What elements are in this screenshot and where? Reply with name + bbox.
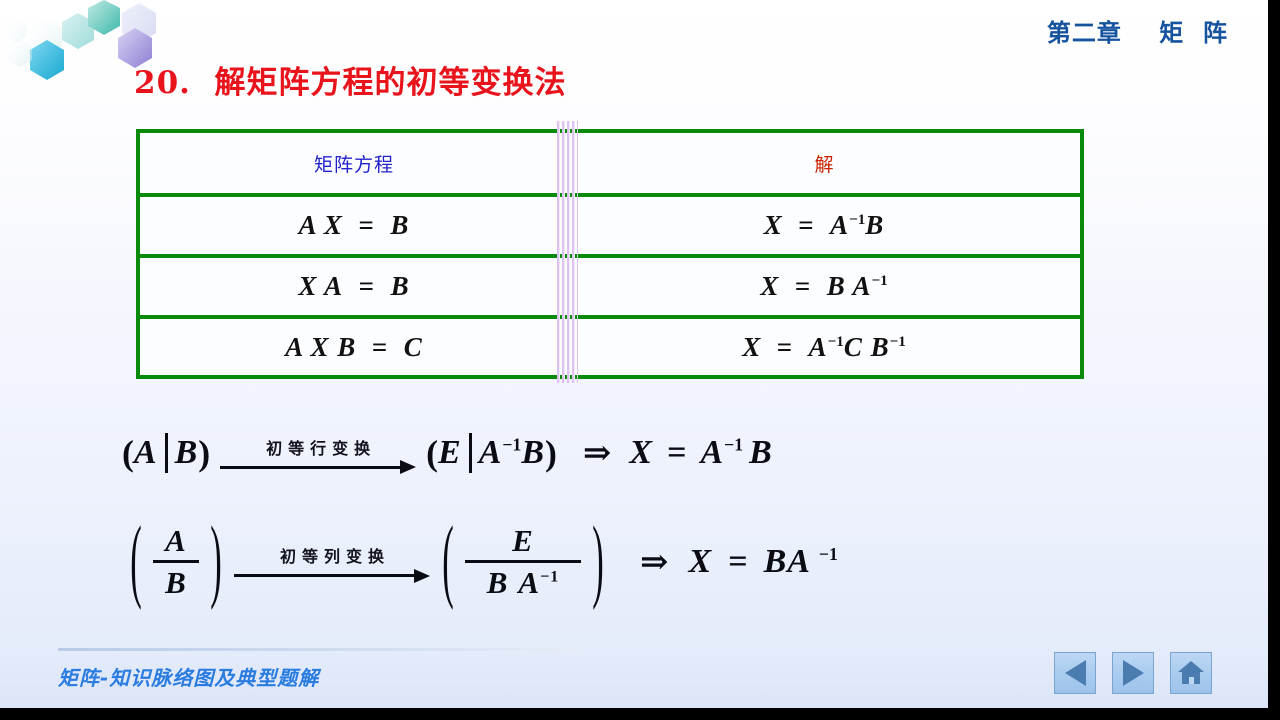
result-x: X	[629, 434, 653, 472]
arrow-line-icon	[220, 460, 416, 476]
implies-symbol: ⇒	[579, 433, 616, 473]
table-cell-solution: X = B A−1	[568, 258, 1080, 315]
equation-axb-c: A X B = C	[285, 332, 422, 363]
open-bigparen-right: (	[439, 509, 457, 614]
table-header-cell-equation: 矩阵方程	[140, 133, 568, 193]
close-paren-left: )	[198, 432, 210, 474]
result-bainv: BA−1	[764, 543, 838, 581]
table-cell-equation: A X B = C	[140, 319, 568, 376]
table-row: A X = B X = A−1B	[140, 193, 1080, 254]
stack-top-e: E	[506, 524, 540, 560]
stack-bottom-bainv: BA−1	[481, 563, 566, 599]
solution-x-ainvcbinv: X = A−1C B−1	[742, 332, 906, 363]
table-header-cell-solution: 解	[568, 133, 1080, 193]
open-paren-left: (	[122, 432, 134, 474]
equals-symbol: =	[724, 543, 751, 581]
matrix-ainv-b: A−1B	[479, 434, 545, 472]
derivation-column-transformation: ( A B ) 初等列变换 ( E BA−1 ) ⇒ X = BA−1	[128, 524, 838, 600]
augment-bar	[165, 433, 168, 473]
result-ainv-b: A−1B	[700, 434, 772, 472]
arrow-label-column-transform: 初等列变换	[274, 543, 390, 567]
close-bigparen-right: )	[589, 509, 607, 614]
triangle-right-icon	[1123, 660, 1144, 686]
arrow-line-icon	[234, 568, 430, 584]
table-cell-solution: X = A−1B	[568, 197, 1080, 254]
table-header-row: 矩阵方程 解	[140, 133, 1080, 193]
close-paren-right: )	[545, 432, 557, 474]
matrix-b: B	[175, 434, 199, 472]
previous-slide-button[interactable]	[1054, 652, 1096, 694]
column-header-solution: 解	[814, 150, 833, 177]
stack-top-a: A	[159, 524, 193, 560]
table-row: X A = B X = B A−1	[140, 254, 1080, 315]
equation-ax-b: A X = B	[299, 210, 410, 241]
implies-symbol: ⇒	[636, 542, 673, 582]
slide-canvas: 第二章 矩 阵 20. 解矩阵方程的初等变换法 矩阵方程 解 A X = B X…	[0, 0, 1268, 708]
stack-bottom-b: B	[159, 563, 193, 599]
column-transform-arrow: 初等列变换	[234, 543, 430, 584]
footer-title: 矩阵-知识脉络图及典型题解	[58, 662, 319, 691]
result-x: X	[689, 543, 713, 581]
navigation-buttons	[1054, 652, 1212, 694]
row-transform-arrow: 初等行变换	[220, 435, 416, 476]
derivation-row-transformation: ( A B ) 初等行变换 ( E A−1B ) ⇒ X = A−1B	[122, 432, 773, 474]
footer-divider	[58, 648, 580, 651]
table-cell-solution: X = A−1C B−1	[568, 319, 1080, 376]
table-cell-equation: A X = B	[140, 197, 568, 254]
matrix-a: A	[134, 434, 158, 472]
table-row: A X B = C X = A−1C B−1	[140, 315, 1080, 376]
page-title: 20. 解矩阵方程的初等变换法	[134, 57, 567, 102]
open-bigparen-left: (	[127, 509, 145, 614]
matrix-e: E	[438, 434, 462, 472]
augment-bar	[469, 433, 472, 473]
equals-symbol: =	[663, 434, 690, 472]
table-cell-equation: X A = B	[140, 258, 568, 315]
matrix-equation-table: 矩阵方程 解 A X = B X = A−1B X A = B X = B A−…	[136, 129, 1084, 379]
stacked-matrix-a-over-b: A B	[153, 524, 199, 600]
equation-xa-b: X A = B	[298, 271, 409, 302]
open-paren-right: (	[426, 432, 438, 474]
solution-x-ainvb: X = A−1B	[764, 210, 885, 241]
close-bigparen-left: )	[207, 509, 225, 614]
triangle-left-icon	[1065, 660, 1086, 686]
arrow-label-row-transform: 初等行变换	[260, 435, 376, 459]
solution-x-bainv: X = B A−1	[760, 271, 887, 302]
column-header-equation: 矩阵方程	[314, 150, 394, 177]
chapter-header: 第二章 矩 阵	[1047, 13, 1228, 48]
home-icon	[1178, 661, 1204, 685]
stacked-matrix-e-over-bainv: E BA−1	[465, 524, 581, 600]
home-button[interactable]	[1170, 652, 1212, 694]
next-slide-button[interactable]	[1112, 652, 1154, 694]
